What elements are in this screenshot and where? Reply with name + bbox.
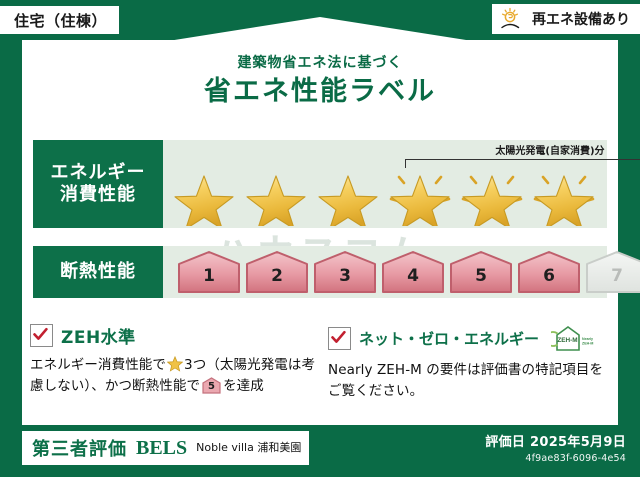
property-name: Noble villa 浦和美園 xyxy=(196,441,301,454)
star-icon xyxy=(313,166,383,226)
star-icon xyxy=(241,166,311,226)
evaluation-date: 評価日 2025年5月9日 xyxy=(485,431,626,450)
insulation-level-5: 5 xyxy=(449,250,513,294)
building-type-label: 住宅（住棟） xyxy=(14,10,107,31)
insulation-level-1: 1 xyxy=(177,250,241,294)
star-icon xyxy=(169,166,239,226)
title-main: 省エネ性能ラベル xyxy=(22,75,618,109)
insulation-performance-label-box: 断熱性能 xyxy=(33,246,163,298)
insulation-label: 断熱性能 xyxy=(60,261,136,284)
insulation-level-number: 7 xyxy=(585,250,640,294)
check-icon xyxy=(330,329,347,346)
insulation-level-6: 6 xyxy=(517,250,581,294)
bels-certification-chip: 第三者評価 BELS Noble villa 浦和美園 xyxy=(22,431,309,465)
title-subtitle: 建築物省エネ法に基づく xyxy=(22,55,618,72)
solar-sun-icon xyxy=(500,7,526,31)
solar-bracket-label: 太陽光発電(自家消費)分 xyxy=(401,142,640,157)
energy-label-line1: エネルギー xyxy=(51,162,146,185)
insulation-level-number: 4 xyxy=(381,250,445,294)
svg-text:ZEH-M: ZEH-M xyxy=(582,342,593,346)
net-zero-title: ネット・ゼロ・エネルギー xyxy=(359,328,539,349)
inline-house-number: 5 xyxy=(202,377,221,394)
svg-text:ZEH-M: ZEH-M xyxy=(557,337,577,344)
zeh-standard-checkbox xyxy=(30,324,53,347)
inline-house-icon: 5 xyxy=(202,377,221,394)
inline-star-icon xyxy=(167,356,183,372)
renewable-energy-label: 再エネ設備あり xyxy=(532,9,630,29)
evaluation-info: 評価日 2025年5月9日 4f9ae83f-6096-4e54 xyxy=(485,431,626,464)
energy-performance-label: 住宅（住棟） 再エネ設備あり 建築物省エネ法に基づく 省エネ性能ラベル ハウスコ… xyxy=(0,0,640,477)
zeh-m-logo-shape: ZEH-M Nearly ZEH-M xyxy=(551,323,597,353)
energy-performance-label-box: エネルギー 消費性能 xyxy=(33,140,163,228)
zeh-body-part3: を達成 xyxy=(223,378,264,394)
insulation-level-7: 7 xyxy=(585,250,640,294)
solar-bracket-line xyxy=(405,159,640,168)
zeh-standard-criteria: ZEH水準 エネルギー消費性能で3つ（太陽光発電は考慮しない）、かつ断熱性能で5… xyxy=(30,323,320,397)
star-icon-solar xyxy=(529,166,599,226)
zeh-standard-body: エネルギー消費性能で3つ（太陽光発電は考慮しない）、かつ断熱性能で5を達成 xyxy=(30,355,320,397)
evaluation-id: 4f9ae83f-6096-4e54 xyxy=(485,453,626,464)
energy-label-line2: 消費性能 xyxy=(60,184,136,207)
star-icon-solar xyxy=(457,166,527,226)
bels-jp-label: 第三者評価 xyxy=(32,435,127,461)
insulation-level-scale: 1234567 xyxy=(163,246,607,298)
net-zero-energy-criteria: ネット・ゼロ・エネルギー ZEH-M Nearly ZEH-M Nearly Z… xyxy=(328,323,610,402)
bels-en-label: BELS xyxy=(136,437,187,460)
zeh-standard-title: ZEH水準 xyxy=(61,323,136,348)
insulation-level-3: 3 xyxy=(313,250,377,294)
zeh-m-logo: ZEH-M Nearly ZEH-M xyxy=(551,323,597,353)
building-type-chip: 住宅（住棟） xyxy=(0,6,119,34)
net-zero-energy-header: ネット・ゼロ・エネルギー ZEH-M Nearly ZEH-M xyxy=(328,323,610,353)
star-icon-solar xyxy=(385,166,455,226)
net-zero-checkbox xyxy=(328,327,351,350)
title-block: 建築物省エネ法に基づく 省エネ性能ラベル xyxy=(22,55,618,109)
insulation-rating-plot: 1234567 xyxy=(163,246,607,298)
energy-performance-row: エネルギー 消費性能 太陽光発電(自家消費)分 xyxy=(33,140,607,228)
insulation-level-number: 6 xyxy=(517,250,581,294)
insulation-level-number: 5 xyxy=(449,250,513,294)
solar-contribution-bracket: 太陽光発電(自家消費)分 xyxy=(401,143,640,175)
insulation-performance-row: 断熱性能 1234567 xyxy=(33,246,607,298)
energy-rating-plot: 太陽光発電(自家消費)分 xyxy=(163,140,607,228)
label-footer: 第三者評価 BELS Noble villa 浦和美園 評価日 2025年5月9… xyxy=(0,425,640,477)
svg-text:Nearly: Nearly xyxy=(582,337,593,341)
check-icon xyxy=(32,326,49,343)
net-zero-body: Nearly ZEH-M の要件は評価書の特記項目をご覧ください。 xyxy=(328,360,610,402)
insulation-level-number: 1 xyxy=(177,250,241,294)
insulation-level-2: 2 xyxy=(245,250,309,294)
zeh-standard-header: ZEH水準 xyxy=(30,323,320,348)
insulation-level-number: 2 xyxy=(245,250,309,294)
zeh-body-part1: エネルギー消費性能で xyxy=(30,357,166,373)
insulation-level-number: 3 xyxy=(313,250,377,294)
renewable-energy-chip: 再エネ設備あり xyxy=(492,4,640,34)
insulation-level-4: 4 xyxy=(381,250,445,294)
